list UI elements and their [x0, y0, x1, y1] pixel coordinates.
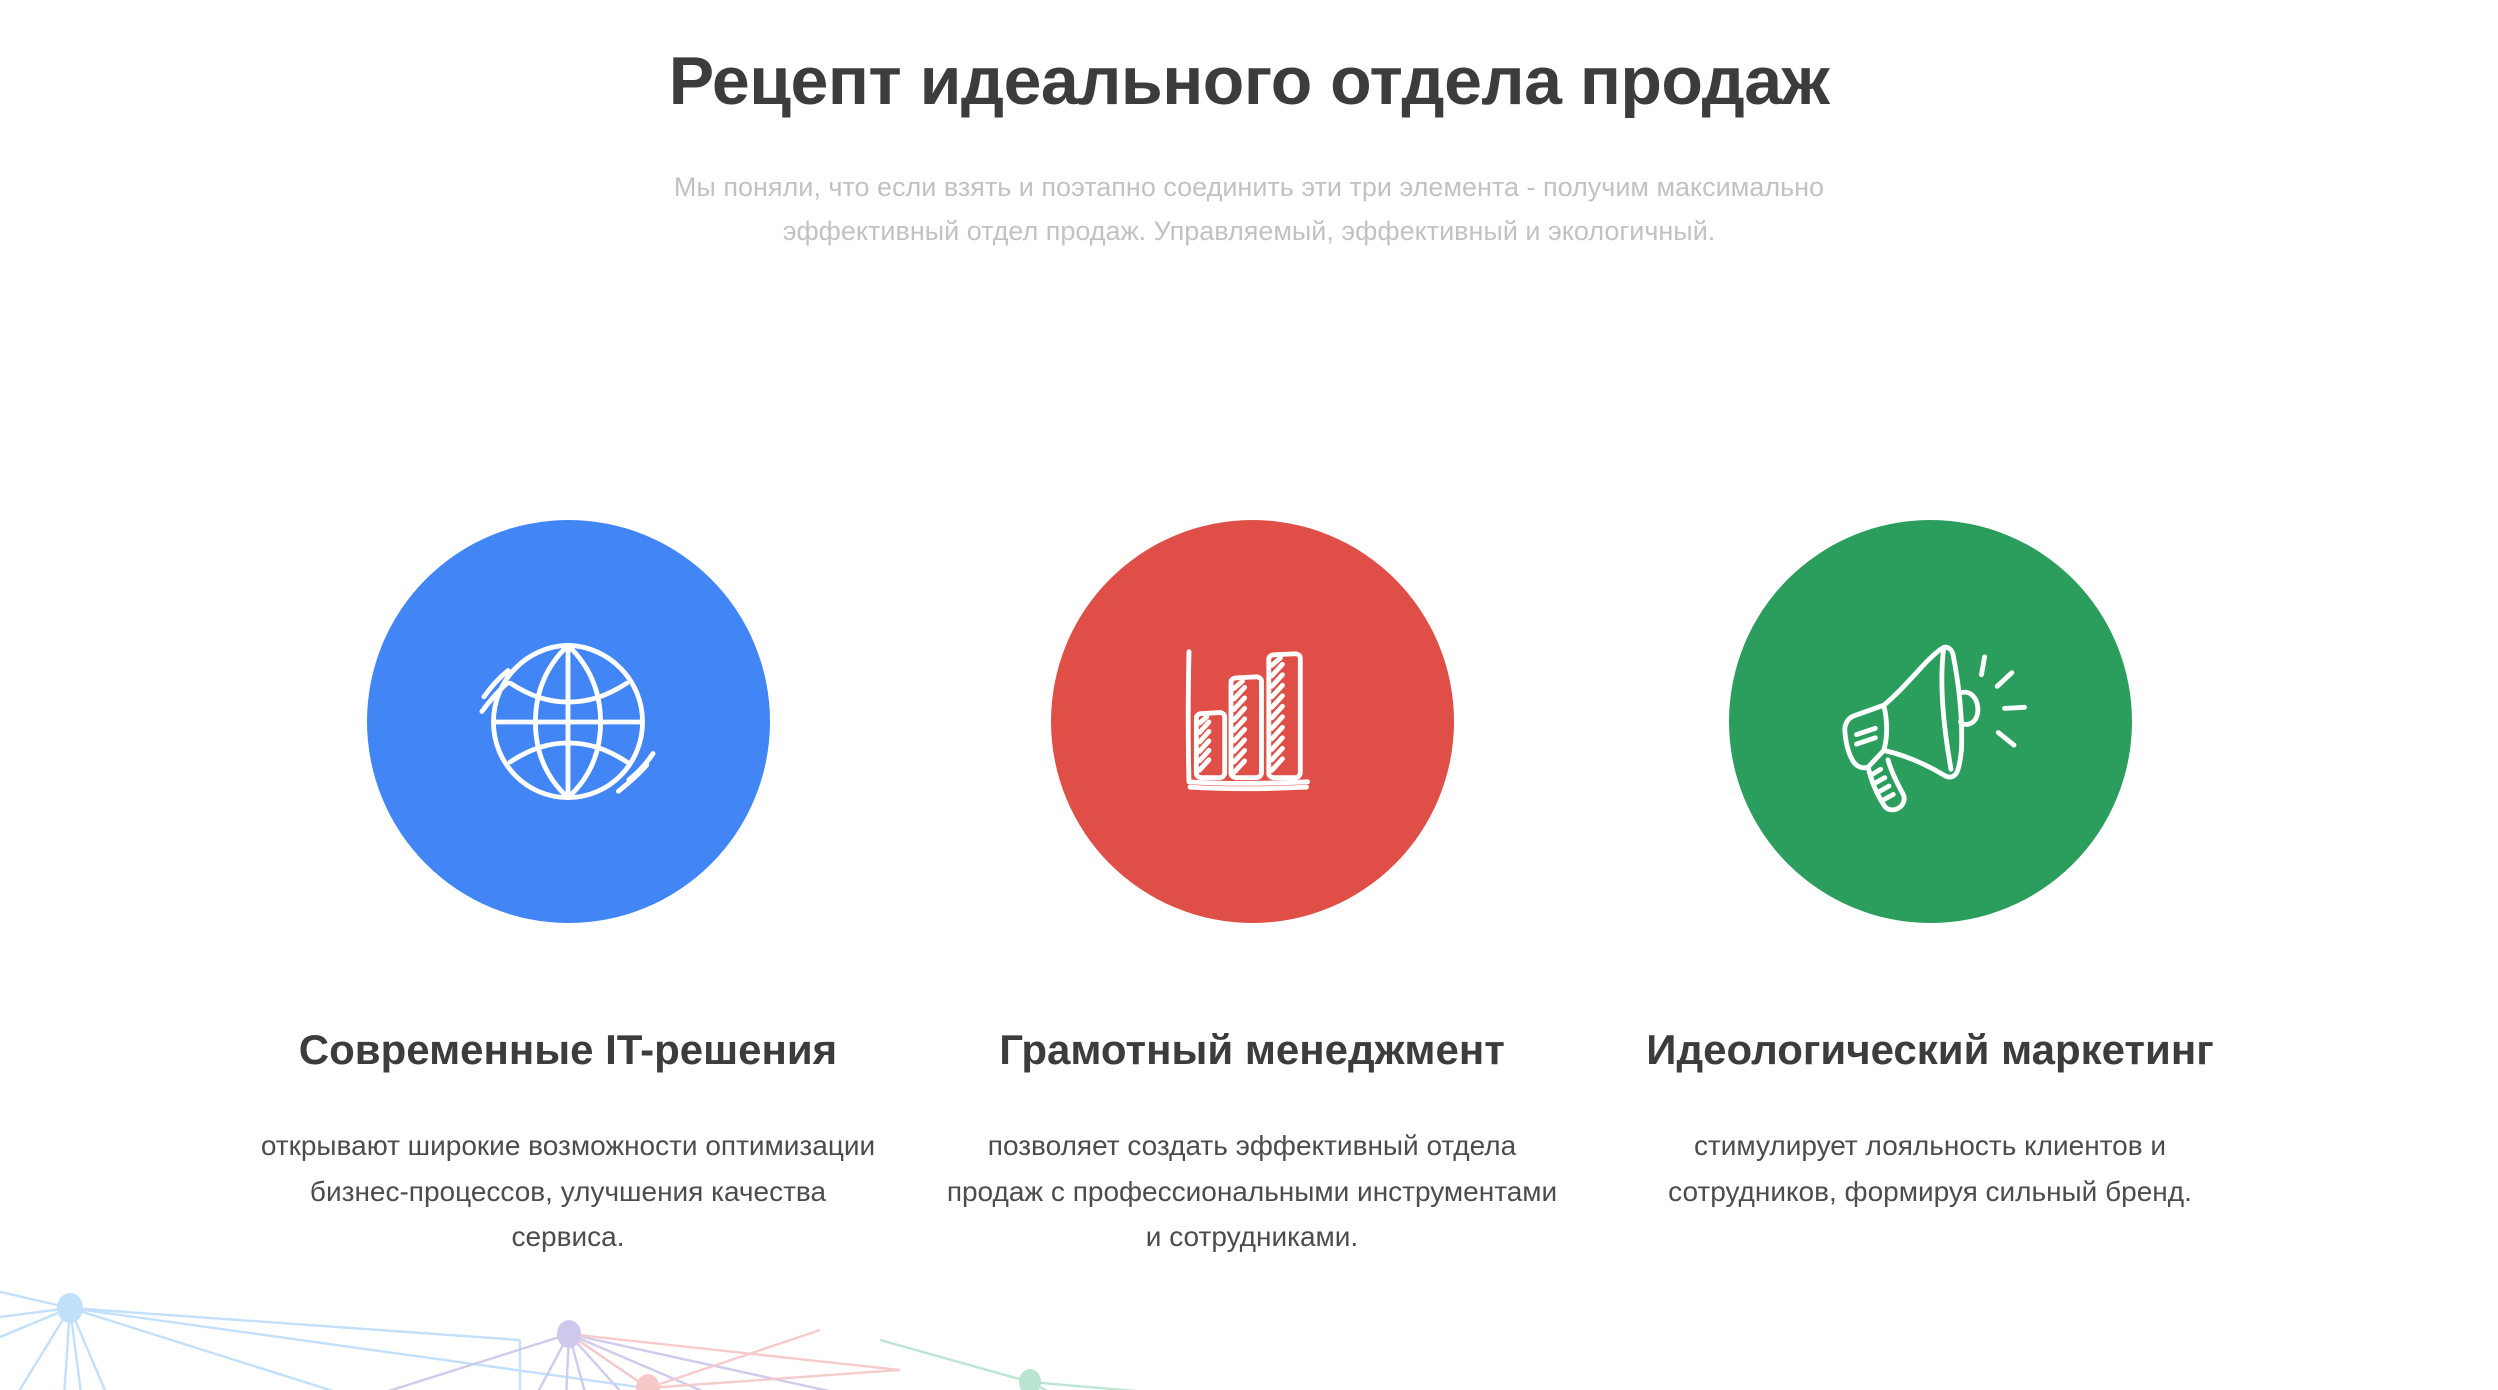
page-header: Рецепт идеального отдела продаж Мы понял…	[0, 0, 2498, 254]
card-title: Грамотный менеджмент	[999, 1025, 1505, 1075]
feature-card-it-solutions: Современные IT-решения открывают широкие…	[238, 520, 898, 1259]
card-description: позволяет создать эффективный отдела про…	[942, 1123, 1562, 1259]
card-title: Современные IT-решения	[299, 1025, 837, 1075]
feature-card-marketing: Идеологический маркетинг стимулирует лоя…	[1600, 520, 2260, 1214]
card-icon-circle-red	[1051, 520, 1454, 923]
feature-cards-row: Современные IT-решения открывают широкие…	[0, 520, 2498, 1259]
page-title: Рецепт идеального отдела продаж	[0, 42, 2498, 120]
globe-icon	[463, 617, 673, 827]
feature-card-management: Грамотный менеджмент позволяет создать э…	[922, 520, 1582, 1259]
card-description: стимулирует лояльность клиентов и сотруд…	[1620, 1123, 2240, 1214]
bar-chart-icon	[1147, 617, 1357, 827]
page-root: Рецепт идеального отдела продаж Мы понял…	[0, 0, 2498, 1390]
page-subtitle: Мы поняли, что если взять и поэтапно сое…	[614, 166, 1884, 253]
card-title: Идеологический маркетинг	[1646, 1025, 2213, 1075]
card-icon-circle-green	[1729, 520, 2132, 923]
card-description: открывают широкие возможности оптимизаци…	[258, 1123, 878, 1259]
card-icon-circle-blue	[367, 520, 770, 923]
megaphone-icon	[1825, 617, 2035, 827]
